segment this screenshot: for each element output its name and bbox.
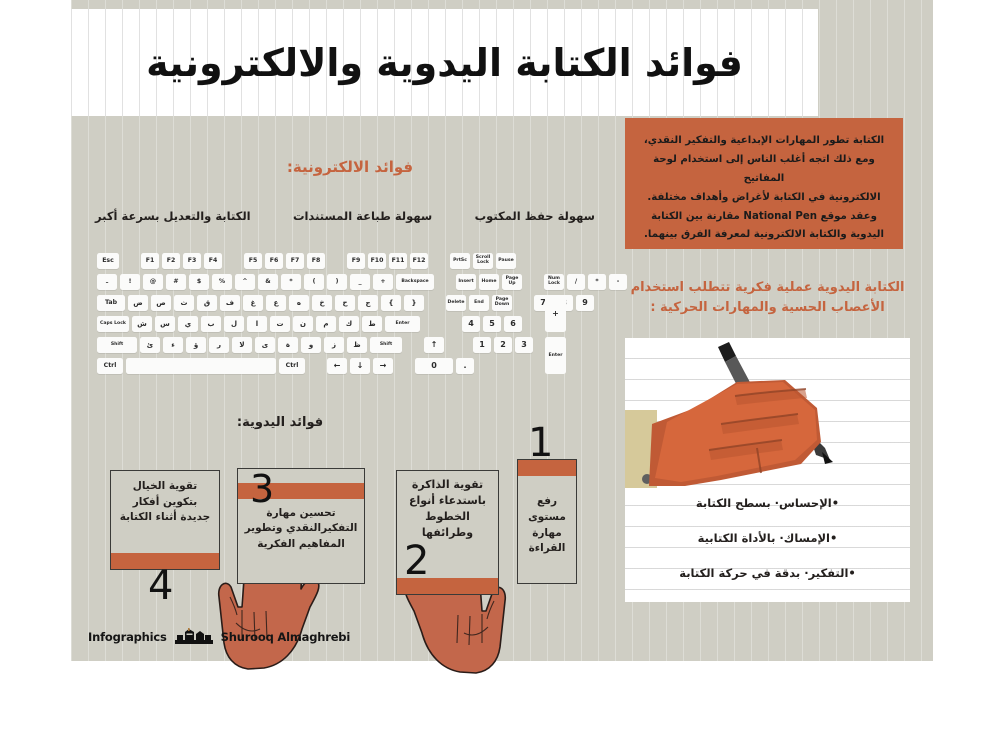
key-spacer: [328, 253, 344, 269]
key-shift-right[interactable]: Shift: [370, 337, 402, 353]
key-spacer: [308, 358, 324, 374]
manual-benefit-number-2: 2: [404, 541, 429, 581]
key-page-down[interactable]: Page Down: [492, 295, 512, 311]
lined-paper-card: •الإحساس· بسطح الكتابة •الإمساك· بالأداة…: [625, 338, 910, 602]
electronic-benefit-item-2: سهولة طباعة المستندات: [293, 209, 432, 223]
footer-infographics-label: Infographics: [88, 630, 167, 644]
key-arabic-tha[interactable]: ث: [174, 295, 194, 311]
key-scroll-lock[interactable]: Scroll Lock: [473, 253, 493, 269]
key-arabic-comma[interactable]: ة: [278, 337, 298, 353]
manual-writing-bullets: •الإحساس· بسطح الكتابة •الإمساك· بالأداة…: [625, 486, 910, 591]
manual-benefit-text-4: تقوية الخيال بتكوين أفكار جديدة أثناء ال…: [111, 479, 219, 526]
key-6[interactable]: ^: [235, 274, 255, 290]
key-spacer: [427, 295, 443, 311]
key-print-screen[interactable]: PrtSc: [450, 253, 470, 269]
footer-credit: Infographics Shurooq Almaghrebi: [88, 628, 350, 646]
manual-benefit-number-4: 4: [148, 566, 173, 606]
electronic-benefit-item-1: الكتابة والتعديل بسرعة أكبر: [95, 209, 251, 223]
electronic-benefits-heading: فوائد الالكترونية:: [255, 158, 445, 176]
key-f1[interactable]: F1: [141, 253, 159, 269]
key-shift-left[interactable]: Shift: [97, 337, 137, 353]
key-numpad-2[interactable]: 2: [494, 337, 512, 353]
key-arabic-kha[interactable]: خ: [312, 295, 332, 311]
key-bracket-right[interactable]: }: [404, 295, 424, 311]
key-spacer: [405, 337, 421, 353]
key-arabic-seen[interactable]: س: [155, 316, 175, 332]
manual-benefit-text-1: رفع مستوى مهارة القراءة: [518, 494, 576, 557]
key-spacer: [447, 337, 470, 353]
key-end[interactable]: End: [469, 295, 489, 311]
intro-line-1: الكتابة تطور المهارات الإبداعية والتفكير…: [639, 132, 889, 151]
keyboard-number-row: ـ ! @ # $ % ^ & * ( ) _ + Backspace Inse…: [97, 274, 627, 290]
key-arabic-hamza[interactable]: ء: [163, 337, 183, 353]
key-7[interactable]: &: [258, 274, 278, 290]
key-arabic-ha[interactable]: ه: [289, 295, 309, 311]
key-4[interactable]: $: [189, 274, 209, 290]
key-page-up[interactable]: Page Up: [502, 274, 522, 290]
key-equals[interactable]: +: [373, 274, 393, 290]
key-backspace[interactable]: Backspace: [396, 274, 434, 290]
key-arabic-jeem[interactable]: ج: [358, 295, 378, 311]
manual-benefit-number-3: 3: [250, 470, 274, 508]
key-spacer: [423, 316, 459, 332]
key-numpad-multiply[interactable]: *: [588, 274, 606, 290]
key-spacer: [225, 253, 241, 269]
hand-shape: [649, 380, 821, 486]
keyboard-bottom-row: Shift ئ ء ؤ ر لا ى ة و ز ظ Shift ↑ 1 2 3: [97, 337, 533, 353]
key-minus[interactable]: _: [350, 274, 370, 290]
key-8[interactable]: *: [281, 274, 301, 290]
key-f2[interactable]: F2: [162, 253, 180, 269]
key-arabic-ain[interactable]: ع: [266, 295, 286, 311]
key-0[interactable]: ): [327, 274, 347, 290]
makkah-newspaper-logo-icon: [174, 628, 214, 646]
manual-benefit-text-3: تحسين مهارة التفكيرالنقدي وتطوير المفاهي…: [238, 506, 364, 552]
key-f7[interactable]: F7: [286, 253, 304, 269]
intro-line-2: ومع ذلك اتجه أغلب الناس إلى استخدام لوحة…: [639, 151, 889, 189]
key-arabic-dad[interactable]: ض: [128, 295, 148, 311]
key-f3[interactable]: F3: [183, 253, 201, 269]
keyboard-illustration: Esc F1 F2 F3 F4 F5 F6 F7 F8 F9 F10 F11 F…: [97, 253, 582, 380]
key-bracket-left[interactable]: {: [381, 295, 401, 311]
key-f5[interactable]: F5: [244, 253, 262, 269]
key-3[interactable]: #: [166, 274, 186, 290]
key-spacer: [437, 274, 453, 290]
page-title: فوائد الكتابة اليدوية والالكترونية: [146, 41, 743, 85]
key-delete[interactable]: Delete: [446, 295, 466, 311]
key-arabic-ghain[interactable]: غ: [243, 295, 263, 311]
key-esc[interactable]: Esc: [97, 253, 119, 269]
key-caps-lock[interactable]: Caps Lock: [97, 316, 129, 332]
key-home[interactable]: Home: [479, 274, 499, 290]
key-f6[interactable]: F6: [265, 253, 283, 269]
manual-benefit-text-2: تقوية الذاكرة باستدعاء أنواع الخطوط وطرا…: [397, 477, 498, 541]
key-numpad-1[interactable]: 1: [473, 337, 491, 353]
key-arabic-waw[interactable]: و: [301, 337, 321, 353]
key-numpad-9[interactable]: 9: [576, 295, 594, 311]
keyboard-home-row: Caps Lock ش س ي ب ل ا ت ن م ك ط Enter 4 …: [97, 316, 522, 332]
key-arabic-ta[interactable]: ت: [270, 316, 290, 332]
key-f9[interactable]: F9: [347, 253, 365, 269]
key-tab[interactable]: Tab: [97, 295, 125, 311]
arrow-up-icon[interactable]: ↑: [424, 337, 444, 353]
footer-author-name: Shurooq Almaghrebi: [221, 630, 350, 644]
key-arabic-zah[interactable]: ظ: [347, 337, 367, 353]
key-5[interactable]: %: [212, 274, 232, 290]
key-arabic-hamza-ya[interactable]: ئ: [140, 337, 160, 353]
key-arabic-qaf[interactable]: ق: [197, 295, 217, 311]
key-arabic-lam-alef[interactable]: لا: [232, 337, 252, 353]
key-arabic-ya[interactable]: ي: [178, 316, 198, 332]
key-arabic-lam[interactable]: ل: [224, 316, 244, 332]
hand-with-pen-illustration: [625, 338, 910, 488]
arrow-down-icon[interactable]: ↓: [350, 358, 370, 374]
arrow-left-icon[interactable]: ←: [327, 358, 347, 374]
key-arabic-ra[interactable]: ر: [209, 337, 229, 353]
key-f8[interactable]: F8: [307, 253, 325, 269]
key-num-lock[interactable]: Num Lock: [544, 274, 564, 290]
key-arabic-ba[interactable]: ب: [201, 316, 221, 332]
manual-benefit-box-4: تقوية الخيال بتكوين أفكار جديدة أثناء ال…: [110, 470, 220, 570]
key-arabic-sheen[interactable]: ش: [132, 316, 152, 332]
manual-benefit-box-1: رفع مستوى مهارة القراءة: [517, 459, 577, 584]
key-grave[interactable]: ـ: [97, 274, 117, 290]
key-numpad-divide[interactable]: /: [567, 274, 585, 290]
key-ctrl-right[interactable]: Ctrl: [279, 358, 305, 374]
key-f4[interactable]: F4: [204, 253, 222, 269]
key-numpad-6[interactable]: 6: [504, 316, 522, 332]
key-arabic-noon[interactable]: ن: [293, 316, 313, 332]
key-arabic-alef-maksura[interactable]: ى: [255, 337, 275, 353]
key-2[interactable]: @: [143, 274, 163, 290]
key-numpad-enter[interactable]: Enter: [545, 337, 566, 374]
key-arabic-hamza-waw[interactable]: ؤ: [186, 337, 206, 353]
intro-line-5: اليدوية والكتابة الالكترونية لمعرفة الفر…: [639, 226, 889, 245]
key-f11[interactable]: F11: [389, 253, 407, 269]
key-spacer: [515, 295, 531, 311]
electronic-benefits-list: الكتابة والتعديل بسرعة أكبر سهولة طباعة …: [95, 209, 595, 223]
key-numpad-plus[interactable]: +: [545, 295, 566, 332]
infographic-page: فوائد الكتابة اليدوية والالكترونية الكتا…: [0, 0, 1000, 750]
key-ctrl-left[interactable]: Ctrl: [97, 358, 123, 374]
manual-writing-heading: الكتابة اليدوية عملية فكرية تتطلب استخدا…: [620, 278, 915, 318]
key-f12[interactable]: F12: [410, 253, 428, 269]
key-pause[interactable]: Pause: [496, 253, 516, 269]
key-arabic-alef[interactable]: ا: [247, 316, 267, 332]
key-spacer: [431, 253, 447, 269]
key-insert[interactable]: Insert: [456, 274, 476, 290]
key-arabic-meem[interactable]: م: [316, 316, 336, 332]
key-1[interactable]: !: [120, 274, 140, 290]
key-numpad-0[interactable]: 0: [415, 358, 453, 374]
key-numpad-decimal[interactable]: .: [456, 358, 474, 374]
key-spacer: [122, 253, 138, 269]
keyboard-function-row: Esc F1 F2 F3 F4 F5 F6 F7 F8 F9 F10 F11 F…: [97, 253, 516, 269]
key-enter[interactable]: Enter: [385, 316, 420, 332]
electronic-benefit-item-3: سهولة حفظ المكتوب: [475, 209, 595, 223]
manual-writing-bullet-1: •الإحساس· بسطح الكتابة: [639, 486, 896, 521]
key-arabic-fa[interactable]: ف: [220, 295, 240, 311]
manual-benefit-number-1: 1: [528, 423, 553, 463]
key-arabic-zain[interactable]: ز: [324, 337, 344, 353]
manual-writing-bullet-3: •التفكير· بدقة في حركة الكتابة: [639, 556, 896, 591]
keyboard-control-row: Ctrl Ctrl ← ↓ → 0 .: [97, 358, 474, 374]
key-arabic-sad[interactable]: ص: [151, 295, 171, 311]
key-arabic-ta-marbuta[interactable]: ط: [362, 316, 382, 332]
keyboard-top-row: Tab ض ص ث ق ف غ ع ه خ ح ج { } Delete End…: [97, 295, 594, 311]
key-numpad-5[interactable]: 5: [483, 316, 501, 332]
key-f10[interactable]: F10: [368, 253, 386, 269]
intro-line-3: الالكترونية في الكتابة لأغراض وأهداف مخت…: [639, 189, 889, 208]
manual-benefits-heading: فوائد اليدوية:: [190, 415, 370, 430]
intro-line-4: وعقد موقع National Pen مقارنة بين الكتاب…: [639, 208, 889, 227]
title-banner: فوائد الكتابة اليدوية والالكترونية: [71, 9, 818, 116]
manual-writing-bullet-2: •الإمساك· بالأداة الكتابية: [639, 521, 896, 556]
arrow-right-icon[interactable]: →: [373, 358, 393, 374]
key-9[interactable]: (: [304, 274, 324, 290]
key-arabic-kaf[interactable]: ك: [339, 316, 359, 332]
key-numpad-3[interactable]: 3: [515, 337, 533, 353]
intro-callout-box: الكتابة تطور المهارات الإبداعية والتفكير…: [625, 118, 903, 249]
key-spacer: [525, 274, 541, 290]
key-numpad-4[interactable]: 4: [462, 316, 480, 332]
key-space[interactable]: [126, 358, 276, 374]
key-spacer: [396, 358, 412, 374]
key-arabic-hah[interactable]: ح: [335, 295, 355, 311]
